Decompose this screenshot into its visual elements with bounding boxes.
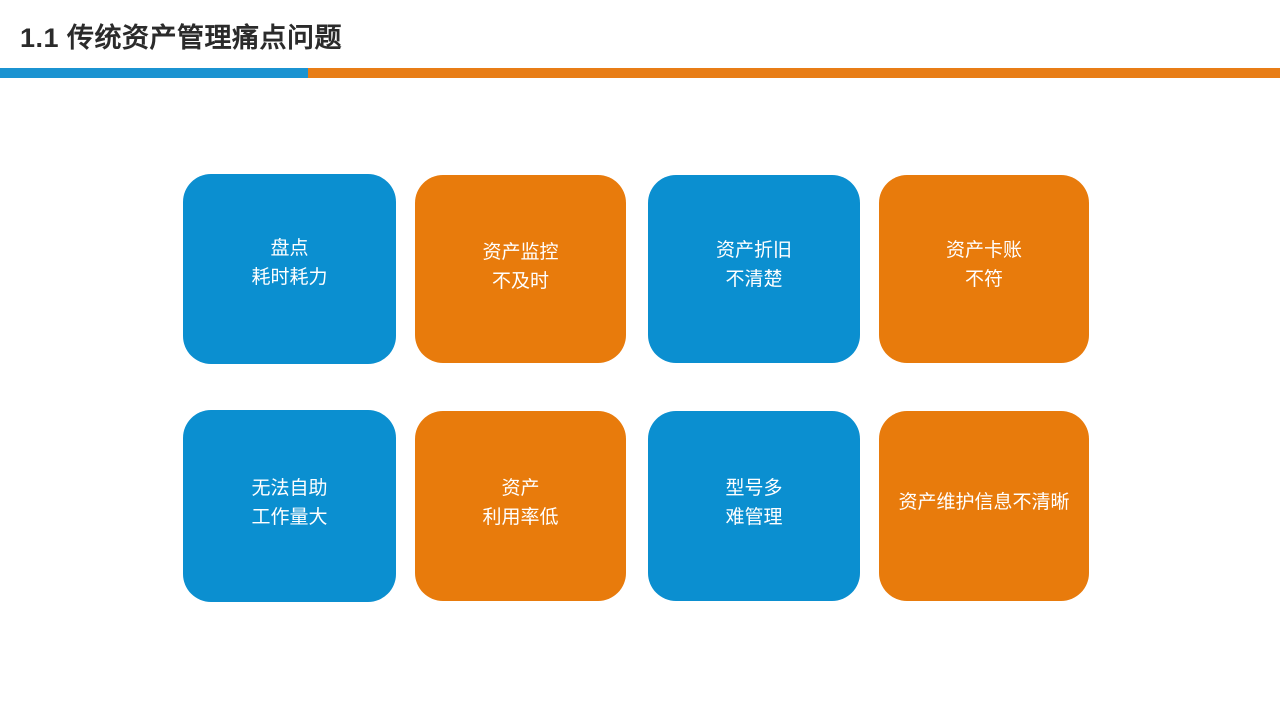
pain-point-card-label: 资产折旧 不清楚 xyxy=(716,236,792,295)
pain-point-card-label: 资产卡账 不符 xyxy=(946,236,1022,295)
pain-point-card-label: 型号多 难管理 xyxy=(725,474,782,533)
pain-point-card-label: 资产监控 不及时 xyxy=(482,238,558,297)
pain-point-card-8[interactable]: 资产维护信息不清晰 xyxy=(879,411,1089,601)
slide-canvas: 1.1 传统资产管理痛点问题 盘点 耗时耗力 资产监控 不及时 资产折旧 不清楚… xyxy=(0,0,1280,720)
pain-point-card-3[interactable]: 资产折旧 不清楚 xyxy=(648,175,860,363)
pain-point-card-label: 资产维护信息不清晰 xyxy=(898,488,1069,517)
pain-point-card-grid: 盘点 耗时耗力 资产监控 不及时 资产折旧 不清楚 资产卡账 不符 无法自助 工… xyxy=(0,0,1280,720)
pain-point-card-1[interactable]: 盘点 耗时耗力 xyxy=(183,174,396,364)
pain-point-card-2[interactable]: 资产监控 不及时 xyxy=(415,175,626,363)
pain-point-card-label: 盘点 耗时耗力 xyxy=(251,234,327,293)
pain-point-card-label: 无法自助 工作量大 xyxy=(251,474,327,533)
pain-point-card-label: 资产 利用率低 xyxy=(482,474,558,533)
pain-point-card-5[interactable]: 无法自助 工作量大 xyxy=(183,410,396,602)
pain-point-card-7[interactable]: 型号多 难管理 xyxy=(648,411,860,601)
pain-point-card-6[interactable]: 资产 利用率低 xyxy=(415,411,626,601)
pain-point-card-4[interactable]: 资产卡账 不符 xyxy=(879,175,1089,363)
